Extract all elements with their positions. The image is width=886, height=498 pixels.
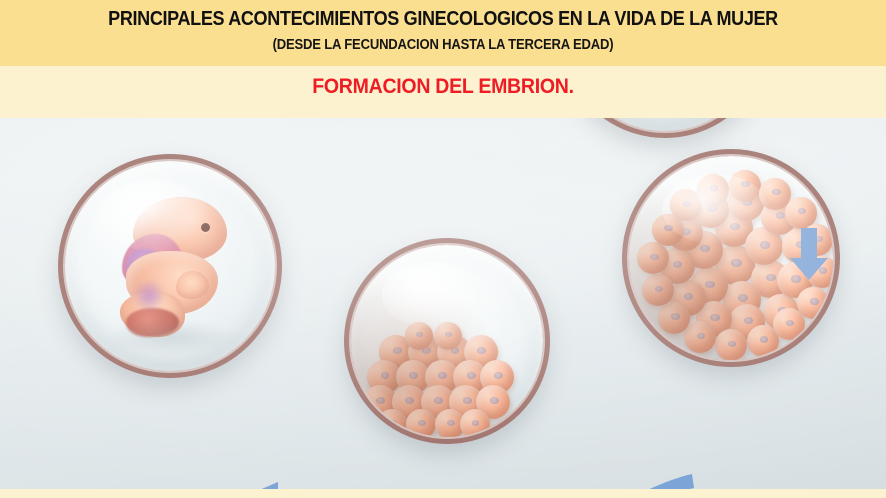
embryonic-cell	[460, 409, 490, 437]
cell-nucleus	[697, 333, 705, 339]
slide-canvas: PRINCIPALES ACONTECIMIENTOS GINECOLOGICO…	[0, 0, 886, 498]
embryonic-cell	[425, 360, 459, 394]
cell-nucleus	[472, 420, 480, 426]
cell-nucleus	[705, 281, 715, 289]
cell-nucleus	[664, 225, 672, 231]
cell-nucleus	[416, 332, 423, 338]
cell-nucleus	[730, 223, 740, 231]
embryonic-cell	[728, 185, 764, 221]
embryonic-cell	[715, 209, 753, 247]
embryonic-cell	[392, 385, 426, 419]
embryo-shadow	[107, 321, 237, 355]
embryonic-cell	[449, 385, 483, 419]
embryonic-cell	[715, 329, 747, 360]
cell-nucleus	[786, 320, 794, 326]
cell-nucleus	[418, 420, 426, 426]
cell-nucleus	[477, 347, 486, 354]
cell-nucleus	[684, 293, 693, 300]
embryonic-cell	[670, 189, 702, 221]
cell-nucleus	[447, 420, 455, 426]
sphere-embryo	[58, 154, 282, 378]
embryo-eye	[201, 223, 210, 232]
cell-nucleus	[742, 198, 751, 205]
embryonic-cell	[667, 215, 703, 251]
embryonic-cell	[476, 385, 510, 419]
embryonic-cell	[480, 360, 514, 394]
embryonic-cell	[729, 304, 765, 340]
embryonic-cell	[693, 192, 729, 228]
embryonic-cell	[464, 335, 498, 369]
morula-cell-mass	[629, 156, 833, 360]
embryonic-cell	[723, 281, 761, 319]
cell-nucleus	[819, 267, 827, 273]
embryonic-cell	[684, 321, 716, 353]
embryonic-cell	[759, 178, 791, 210]
cell-nucleus	[760, 241, 770, 249]
embryonic-cell	[782, 228, 818, 264]
morula-shading	[629, 156, 833, 360]
sphere-inner-ring	[349, 243, 545, 439]
cell-nucleus	[434, 397, 443, 404]
cell-nucleus	[682, 228, 691, 235]
blastocyst-cell-mass	[351, 245, 543, 437]
cell-nucleus	[810, 298, 818, 304]
cell-nucleus	[731, 259, 741, 267]
embryonic-cell	[745, 227, 783, 265]
sphere-gloss	[662, 174, 768, 243]
cell-nucleus	[438, 372, 447, 379]
cell-nucleus	[707, 204, 716, 211]
cell-nucleus	[776, 212, 785, 219]
embryonic-cell	[637, 242, 669, 274]
section-heading: FORMACION DEL EMBRION.	[31, 75, 855, 99]
page-title: PRINCIPALES ACONTECIMIENTOS GINECOLOGICO…	[53, 7, 833, 31]
cell-nucleus	[393, 347, 402, 354]
cell-nucleus	[760, 336, 768, 342]
embryonic-cell	[729, 170, 761, 202]
embryonic-cell	[379, 335, 413, 369]
embryonic-cell	[685, 231, 723, 269]
embryonic-cell	[396, 360, 430, 394]
cell-nucleus	[683, 201, 691, 207]
embryonic-cell	[434, 322, 462, 350]
embryonic-cell	[421, 385, 455, 419]
embryonic-cell	[777, 262, 813, 298]
embryonic-cell	[405, 322, 433, 350]
sphere-inner-ring	[627, 154, 835, 362]
embryonic-cell	[453, 360, 487, 394]
cell-nucleus	[655, 286, 663, 292]
sphere-morula	[622, 149, 840, 367]
cell-nucleus	[494, 372, 503, 379]
embryonic-cell	[659, 248, 695, 284]
cell-nucleus	[650, 254, 658, 260]
cell-nucleus	[381, 372, 390, 379]
embryonic-cell	[785, 197, 817, 229]
cell-nucleus	[766, 274, 776, 282]
embryonic-cell	[696, 301, 732, 337]
cell-nucleus	[738, 294, 748, 302]
embryonic-cell	[715, 245, 755, 285]
cell-nucleus	[772, 189, 780, 195]
embryo-development-illustration: embryo blastocyst morula S	[0, 118, 886, 489]
embryonic-cell	[697, 174, 729, 206]
embryonic-cell	[408, 335, 442, 369]
cell-nucleus	[710, 185, 718, 191]
sphere-inner-ring	[565, 118, 765, 133]
cell-nucleus	[463, 397, 472, 404]
cell-nucleus	[798, 208, 806, 214]
cell-nucleus	[376, 397, 385, 404]
embryonic-cell	[670, 280, 706, 316]
cell-nucleus	[389, 420, 397, 426]
cell-nucleus	[744, 317, 753, 324]
embryonic-cell	[435, 409, 465, 437]
embryonic-cell	[690, 267, 728, 305]
cell-nucleus	[490, 397, 499, 404]
embryonic-cell	[747, 325, 779, 357]
cell-nucleus	[728, 341, 736, 347]
embryonic-cell	[806, 256, 833, 288]
cell-nucleus	[451, 347, 460, 354]
cell-nucleus	[409, 372, 418, 379]
cell-nucleus	[671, 313, 679, 319]
embryonic-cell	[377, 409, 407, 437]
sphere-gloss	[382, 262, 482, 327]
cell-nucleus	[467, 372, 476, 379]
embryonic-cell	[367, 360, 401, 394]
embryonic-cell	[363, 385, 397, 419]
bottom-band	[0, 489, 886, 498]
cell-nucleus	[796, 241, 805, 248]
cell-nucleus	[673, 261, 682, 268]
embryonic-cell	[797, 287, 829, 319]
cell-nucleus	[710, 314, 719, 321]
embryonic-cell	[801, 224, 833, 256]
embryo-figure	[120, 197, 229, 340]
embryo-tint	[135, 277, 163, 314]
embryonic-cell	[652, 214, 684, 246]
embryonic-cell	[658, 302, 690, 334]
embryonic-cell	[406, 409, 436, 437]
cell-nucleus	[422, 347, 431, 354]
arrow-blastocyst-to-embryo-icon	[232, 478, 372, 489]
arrow-morula-to-blastocyst-icon	[552, 470, 697, 489]
blastocyst-shading	[351, 245, 543, 437]
embryonic-cell	[773, 308, 805, 340]
cell-nucleus	[700, 245, 710, 253]
page-subtitle: (DESDE LA FECUNDACION HASTA LA TERCERA E…	[44, 37, 841, 53]
sphere-blastocyst	[344, 238, 550, 444]
embryonic-cell	[763, 294, 799, 330]
cell-nucleus	[778, 307, 787, 314]
sphere-top-cropped	[560, 118, 770, 138]
cell-nucleus	[741, 181, 749, 187]
cell-nucleus	[445, 332, 452, 338]
embryonic-cell	[751, 260, 789, 298]
cell-nucleus	[791, 275, 800, 282]
embryonic-cell	[642, 274, 674, 306]
embryonic-cell	[761, 199, 797, 235]
cell-nucleus	[405, 397, 414, 404]
embryonic-cell	[437, 335, 471, 369]
cell-nucleus	[814, 236, 822, 242]
